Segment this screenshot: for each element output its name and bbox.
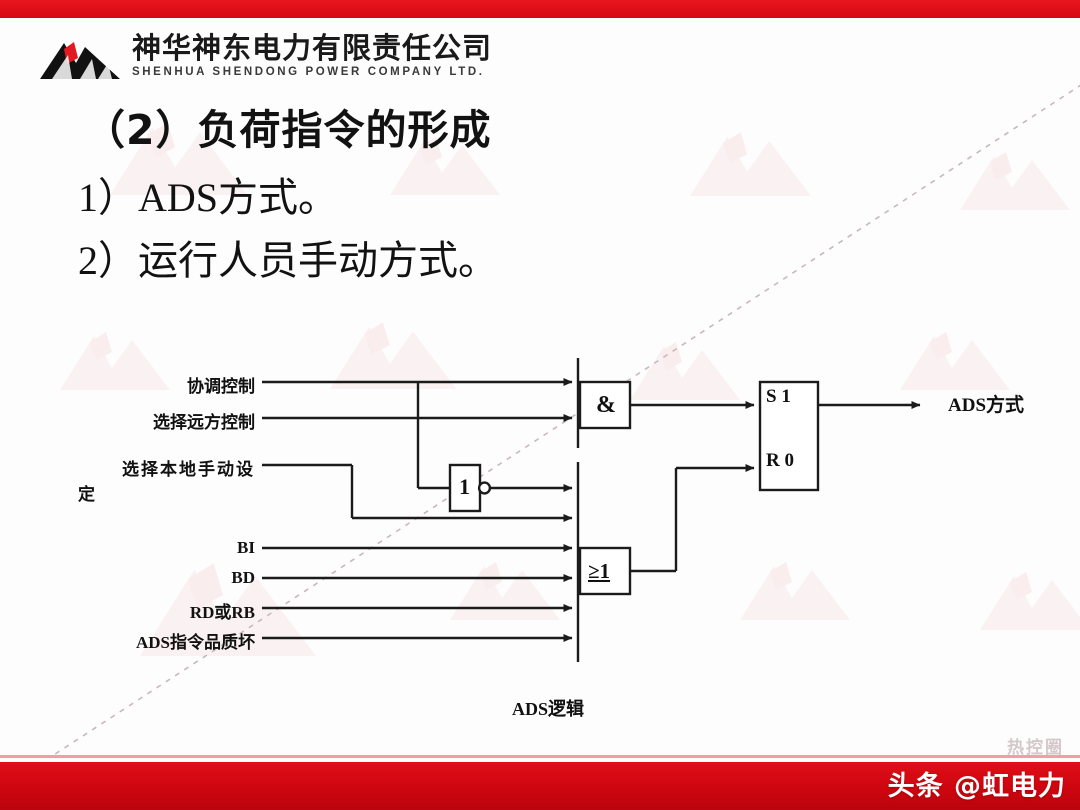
diagram-label-bd: BD — [231, 568, 255, 588]
slide-canvas: 神华神东电力有限责任公司 SHENHUA SHENDONG POWER COMP… — [0, 0, 1080, 810]
bullet-item-2: 2）运行人员手动方式。 — [78, 228, 498, 286]
diagram-label-remote: 选择远方控制 — [153, 408, 255, 433]
diagram-caption: ADS逻辑 — [512, 695, 584, 721]
top-red-bar — [0, 0, 1080, 18]
bullet-item-1: 1）ADS方式。 — [78, 165, 338, 223]
and-gate-symbol: & — [596, 392, 616, 419]
or-gate-symbol: ≥1 — [588, 559, 610, 584]
not-gate-symbol: 1 — [459, 474, 470, 500]
ads-logic-diagram: 协调控制 选择远方控制 选择本地手动设 定 BI BD RD或RB ADS指令品… — [0, 330, 1080, 750]
bottom-white-line — [0, 758, 1080, 762]
company-logo: 神华神东电力有限责任公司 SHENHUA SHENDONG POWER COMP… — [38, 33, 492, 81]
page-title: （2）负荷指令的形成 — [84, 96, 492, 156]
diagram-label-bi: BI — [237, 538, 255, 558]
diagram-label-rd-rb: RD或RB — [190, 598, 255, 623]
company-name-cn: 神华神东电力有限责任公司 — [132, 33, 492, 63]
company-name-en: SHENHUA SHENDONG POWER COMPANY LTD. — [132, 66, 492, 78]
mountain-logo-icon — [38, 33, 122, 81]
diagram-label-local-2: 定 — [78, 480, 95, 505]
logic-diagram-svg — [0, 330, 1080, 750]
diagram-label-local: 选择本地手动设 — [122, 455, 255, 480]
diagram-label-ads-bad-quality: ADS指令品质坏 — [136, 628, 255, 653]
diagram-output-label-ads-mode: ADS方式 — [948, 390, 1024, 417]
diagram-label-coord: 协调控制 — [187, 372, 255, 397]
toutiao-watermark: 头条 @虹电力 — [888, 764, 1066, 803]
flipflop-set-pin-label: S 1 — [766, 386, 791, 408]
flipflop-reset-pin-label: R 0 — [766, 450, 794, 472]
